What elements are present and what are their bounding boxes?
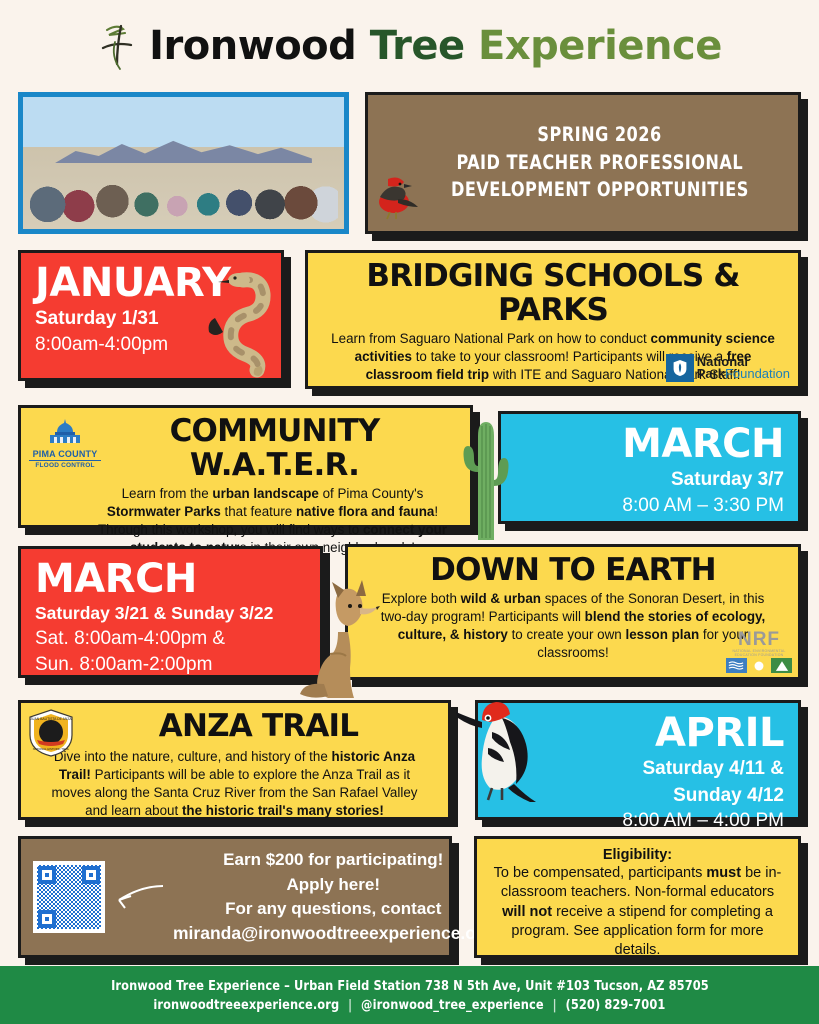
group-photo (18, 92, 349, 234)
brand-word-ironwood: Ironwood (149, 23, 356, 69)
program-title: DOWN TO EARTH (362, 553, 784, 587)
page-title: Ironwood Tree Experience (149, 23, 722, 69)
pima-county-flood-control-logo: PIMA COUNTY FLOOD CONTROL (29, 418, 101, 469)
npf-line-2-light: Foundation (725, 366, 790, 381)
pima-line-2: FLOOD CONTROL (29, 460, 101, 469)
program-card-anza-trail: JUAN BAUTISTA DE ANZA NATIONAL HISTORIC … (18, 700, 451, 820)
vermilion-flycatcher-icon (374, 169, 420, 223)
nrf-wordmark: NRF (726, 630, 792, 649)
program-body: Dive into the nature, culture, and histo… (35, 746, 434, 819)
month-date-line-2: Sunday 4/12 (492, 784, 784, 808)
banner-line-3: DEVELOPMENT OPPORTUNITIES (451, 179, 749, 201)
pima-line-1: PIMA COUNTY (29, 449, 101, 459)
nrf-sun-tile-icon (749, 658, 770, 673)
brand-word-experience: Experience (478, 23, 722, 69)
footer-separator-1: | (343, 997, 357, 1013)
session-row-march-7: PIMA COUNTY FLOOD CONTROL COMMUNITY W.A.… (0, 405, 819, 528)
svg-text:JUAN BAUTISTA DE ANZA: JUAN BAUTISTA DE ANZA (30, 717, 72, 721)
month-card-march-7: MARCH Saturday 3/7 8:00 AM – 3:30 PM (498, 411, 801, 524)
qr-code-icon[interactable] (33, 861, 105, 933)
apply-email[interactable]: miranda@ironwoodtreeexperience.org (173, 921, 493, 946)
month-time-line-2: Sun. 8:00am-2:00pm (35, 653, 306, 678)
npf-shield-icon (666, 354, 694, 382)
banner-line-2: PAID TEACHER PROFESSIONAL (457, 152, 744, 174)
nrf-water-tile-icon (726, 658, 747, 673)
national-park-foundation-logo: National ParkFoundation (666, 354, 790, 382)
hero-row: SPRING 2026 PAID TEACHER PROFESSIONAL DE… (0, 92, 819, 234)
nrf-mountain-tile-icon (771, 658, 792, 673)
program-card-community-water: PIMA COUNTY FLOOD CONTROL COMMUNITY W.A.… (18, 405, 473, 528)
footer-contact-line: ironwoodtreeexperience.org | @ironwood_t… (153, 997, 665, 1013)
program-title: BRIDGING SCHOOLS & PARKS (322, 259, 784, 327)
month-card-april: APRIL Saturday 4/11 & Sunday 4/12 8:00 A… (475, 700, 801, 820)
month-date: Saturday 3/21 & Sunday 3/22 (35, 603, 306, 625)
month-card-march-21: MARCH Saturday 3/21 & Sunday 3/22 Sat. 8… (18, 546, 323, 678)
eligibility-card: Eligibility: To be compensated, particip… (474, 836, 801, 958)
month-date: Saturday 1/31 (35, 307, 267, 331)
pima-capitol-dome-icon (45, 418, 85, 444)
month-time: 8:00am-4:00pm (35, 333, 267, 358)
svg-text:NATIONAL HISTORIC TRAIL: NATIONAL HISTORIC TRAIL (33, 747, 70, 751)
apply-line-2: Apply here! (173, 873, 493, 897)
program-body: Explore both wild & urban spaces of the … (362, 590, 784, 661)
session-row-march-21: MARCH Saturday 3/21 & Sunday 3/22 Sat. 8… (0, 544, 819, 680)
brand-word-tree: Tree (370, 23, 465, 69)
month-card-january: JANUARY Saturday 1/31 8:00am-4:00pm (18, 250, 284, 381)
curved-arrow-left-icon (111, 880, 167, 914)
month-date-line-1: Saturday 4/11 & (492, 757, 784, 781)
footer-website[interactable]: ironwoodtreeexperience.org (153, 997, 339, 1013)
program-card-down-to-earth: DOWN TO EARTH Explore both wild & urban … (345, 544, 801, 680)
session-row-april: JUAN BAUTISTA DE ANZA NATIONAL HISTORIC … (0, 696, 819, 820)
people-group (29, 147, 337, 229)
month-name: MARCH (515, 424, 784, 465)
month-date: Saturday 3/7 (515, 468, 784, 492)
nrf-tiles (726, 658, 792, 673)
month-name: MARCH (35, 559, 306, 600)
eligibility-title: Eligibility: (489, 847, 786, 863)
month-name: JANUARY (35, 263, 267, 304)
program-card-bridging-schools-and-parks: BRIDGING SCHOOLS & PARKS Learn from Sagu… (305, 250, 801, 389)
npf-wordmark: National ParkFoundation (697, 356, 790, 381)
program-title: ANZA TRAIL (35, 709, 434, 743)
banner-line-1: SPRING 2026 (538, 124, 662, 146)
apply-card[interactable]: Earn $200 for participating! Apply here!… (18, 836, 452, 958)
anza-national-historic-trail-logo: JUAN BAUTISTA DE ANZA NATIONAL HISTORIC … (27, 709, 75, 757)
month-name: APRIL (492, 713, 784, 754)
footer-separator-2: | (548, 997, 562, 1013)
apply-line-3: For any questions, contact (173, 897, 493, 921)
footer-instagram[interactable]: @ironwood_tree_experience (361, 997, 544, 1013)
page-footer: Ironwood Tree Experience – Urban Field S… (0, 966, 819, 1024)
page-header: Ironwood Tree Experience (0, 0, 819, 92)
month-time-line-1: Sat. 8:00am-4:00pm & (35, 627, 306, 652)
month-time: 8:00 AM – 3:30 PM (515, 494, 784, 519)
apply-line-1: Earn $200 for participating! (173, 848, 493, 872)
footer-address: Ironwood Tree Experience – Urban Field S… (111, 978, 709, 994)
spring-banner: SPRING 2026 PAID TEACHER PROFESSIONAL DE… (365, 92, 801, 234)
npf-line-2-bold: Park (697, 366, 725, 381)
qr-eye-bottom-left (38, 910, 56, 928)
eligibility-body: To be compensated, participants must be … (489, 864, 786, 960)
nrf-logo: NRF NATIONAL ENVIRONMENTAL EDUCATION FOU… (726, 630, 792, 674)
apply-row: Earn $200 for participating! Apply here!… (0, 836, 819, 958)
nrf-subtitle: NATIONAL ENVIRONMENTAL EDUCATION FOUNDAT… (726, 649, 792, 657)
qr-eye-top-right (82, 866, 100, 884)
month-time: 8:00 AM – 4:00 PM (492, 809, 784, 834)
qr-eye-top-left (38, 866, 56, 884)
session-row-january: JANUARY Saturday 1/31 8:00am-4:00pm BRID… (0, 250, 819, 389)
ironwood-tree-signature-icon (97, 20, 143, 72)
footer-phone[interactable]: (520) 829-7001 (566, 997, 666, 1013)
apply-text-block: Earn $200 for participating! Apply here!… (173, 848, 493, 945)
